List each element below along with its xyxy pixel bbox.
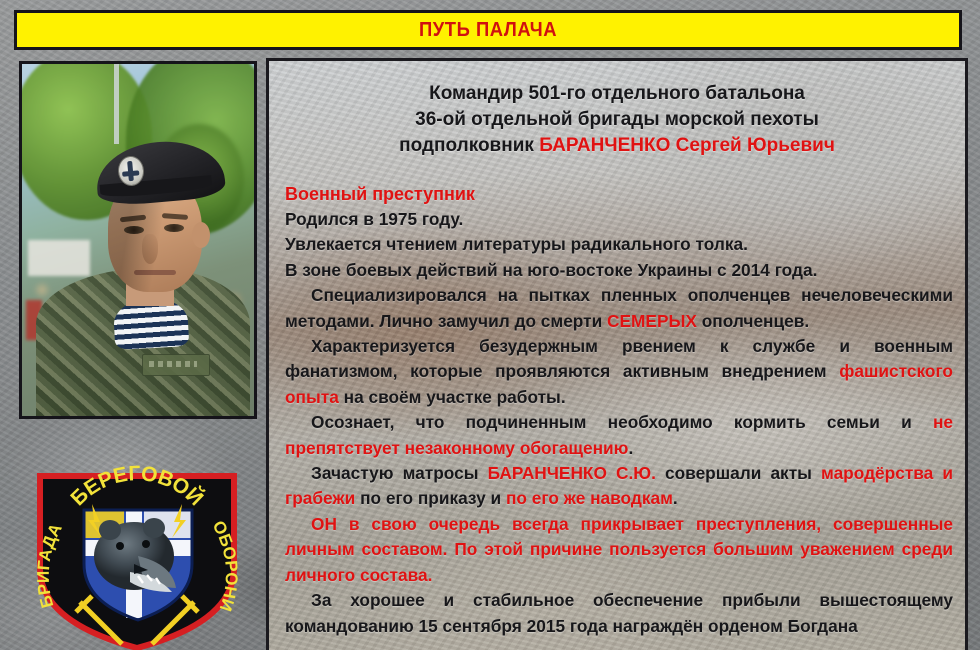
photo-canvas <box>22 64 254 416</box>
dossier-para-coverup: ОН в свою очередь всегда прикрывает прес… <box>285 512 953 588</box>
title-banner: ПУТЬ ПАЛАЧА <box>14 10 962 50</box>
banner-title-text: ПУТЬ ПАЛАЧА <box>419 19 557 42</box>
officer-photo <box>19 61 257 419</box>
officer-title-line1: Командир 501-го отдельного батальона <box>283 81 951 107</box>
dossier-line-reading: Увлекается чтением литературы радикально… <box>285 232 953 257</box>
torture-count: СЕМЕРЫХ <box>607 311 697 331</box>
fanatic-text-b: на своём участке работы. <box>339 387 566 407</box>
officer-title-block: Командир 501-го отдельного батальона 36-… <box>269 61 965 159</box>
officer-rank: подполковник <box>399 135 539 156</box>
dossier-para-fanaticism: Характеризуется безудержным рвением к сл… <box>285 334 953 410</box>
content-panel: Командир 501-го отдельного батальона 36-… <box>266 58 968 650</box>
emblem-svg: БЕРЕГОВОЙ БРИГАДА ОБОРОНИ <box>26 452 248 650</box>
dossier-line-warzone: В зоне боевых действий на юго-востоке Ук… <box>285 258 953 283</box>
dossier-para-award: За хорошее и стабильное обеспечение приб… <box>285 588 953 639</box>
loot-text-d: . <box>673 488 678 508</box>
dossier-para-torture: Специализировался на пытках пленных опол… <box>285 283 953 334</box>
dossier-para-enrichment: Осознает, что подчиненным необходимо кор… <box>285 410 953 461</box>
dossier-subheading: Военный преступник <box>285 181 953 207</box>
loot-text-a: Зачастую матросы <box>311 463 488 483</box>
photo-name-patch <box>142 354 210 376</box>
enrich-text-b: . <box>628 438 633 458</box>
officer-title-line3: подполковник БАРАНЧЕНКО Сергей Юрьевич <box>283 133 951 159</box>
brigade-emblem: БЕРЕГОВОЙ БРИГАДА ОБОРОНИ <box>26 452 248 650</box>
officer-name: БАРАНЧЕНКО Сергей Юрьевич <box>539 135 835 156</box>
torture-text-b: ополченцев. <box>697 311 809 331</box>
loot-text-b: совершали акты <box>656 463 821 483</box>
photo-pole <box>114 64 119 144</box>
content-inner: Командир 501-го отдельного батальона 36-… <box>269 61 965 650</box>
enrich-text-a: Осознает, что подчиненным необходимо кор… <box>311 412 933 432</box>
dossier-body: Военный преступник Родился в 1975 году. … <box>269 159 965 639</box>
loot-highlight-2: по его же наводкам <box>506 488 673 508</box>
dossier-line-birth: Родился в 1975 году. <box>285 207 953 232</box>
officer-title-line2: 36-ой отдельной бригады морской пехоты <box>283 107 951 133</box>
loot-text-c: по его приказу и <box>355 488 506 508</box>
dossier-para-looting: Зачастую матросы БАРАНЧЕНКО С.Ю. соверша… <box>285 461 953 512</box>
loot-name: БАРАНЧЕНКО С.Ю. <box>488 463 656 483</box>
